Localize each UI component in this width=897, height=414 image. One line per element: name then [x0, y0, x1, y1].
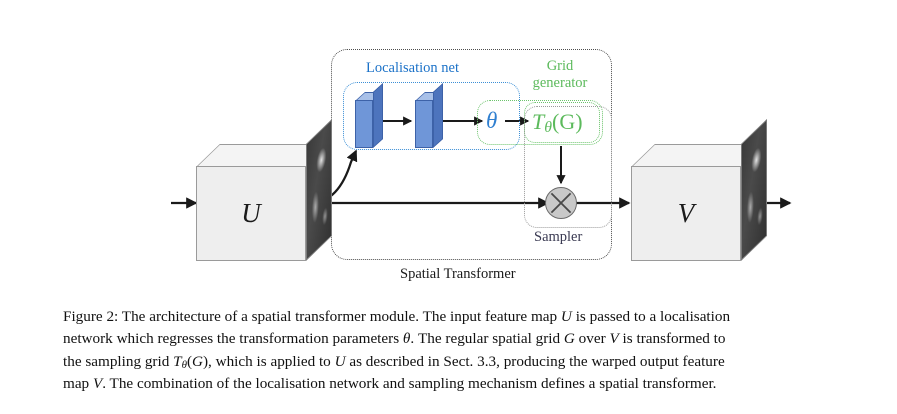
- u-cube-front-face: U: [196, 166, 306, 261]
- v-cube-side-face: [741, 119, 767, 261]
- caption-line-1: Figure 2: The architecture of a spatial …: [63, 306, 838, 328]
- caption-line-2: network which regresses the transformati…: [63, 328, 838, 350]
- theta-symbol: θ: [486, 108, 497, 134]
- conv-slab-2-side: [433, 83, 443, 148]
- spatial-transformer-label: Spatial Transformer: [400, 266, 516, 283]
- caption-figure-number: Figure 2:: [63, 308, 118, 325]
- grid-generator-label-line2: generator: [518, 75, 602, 92]
- output-feature-map-v: V: [631, 144, 741, 261]
- grid-generator-label-line1: Grid: [518, 58, 602, 75]
- conv-slab-1-front: [355, 100, 373, 148]
- v-cube-label: V: [678, 200, 695, 227]
- conv-slab-1-side: [373, 83, 383, 148]
- v-cube-front-face: V: [631, 166, 741, 261]
- conv-slab-2-front: [415, 100, 433, 148]
- localisation-net-label: Localisation net: [366, 60, 459, 77]
- caption-line-4: map V. The combination of the localisati…: [63, 373, 838, 395]
- conv-slab-1: [355, 92, 373, 148]
- u-cube-label: U: [241, 200, 261, 227]
- input-feature-map-u: U: [196, 144, 306, 261]
- caption-line-3: the sampling grid Tθ(G), which is applie…: [63, 351, 838, 373]
- sampler-node: [545, 187, 577, 219]
- conv-slab-2: [415, 92, 433, 148]
- grid-generator-label: Grid generator: [518, 58, 602, 91]
- figure-caption: Figure 2: The architecture of a spatial …: [63, 306, 838, 395]
- figure-container: Localisation net Grid generator θ Tθ(G) …: [0, 0, 897, 414]
- sampler-cross-icon: [545, 187, 577, 219]
- u-cube-side-face: [306, 119, 332, 261]
- sampler-label: Sampler: [534, 229, 582, 246]
